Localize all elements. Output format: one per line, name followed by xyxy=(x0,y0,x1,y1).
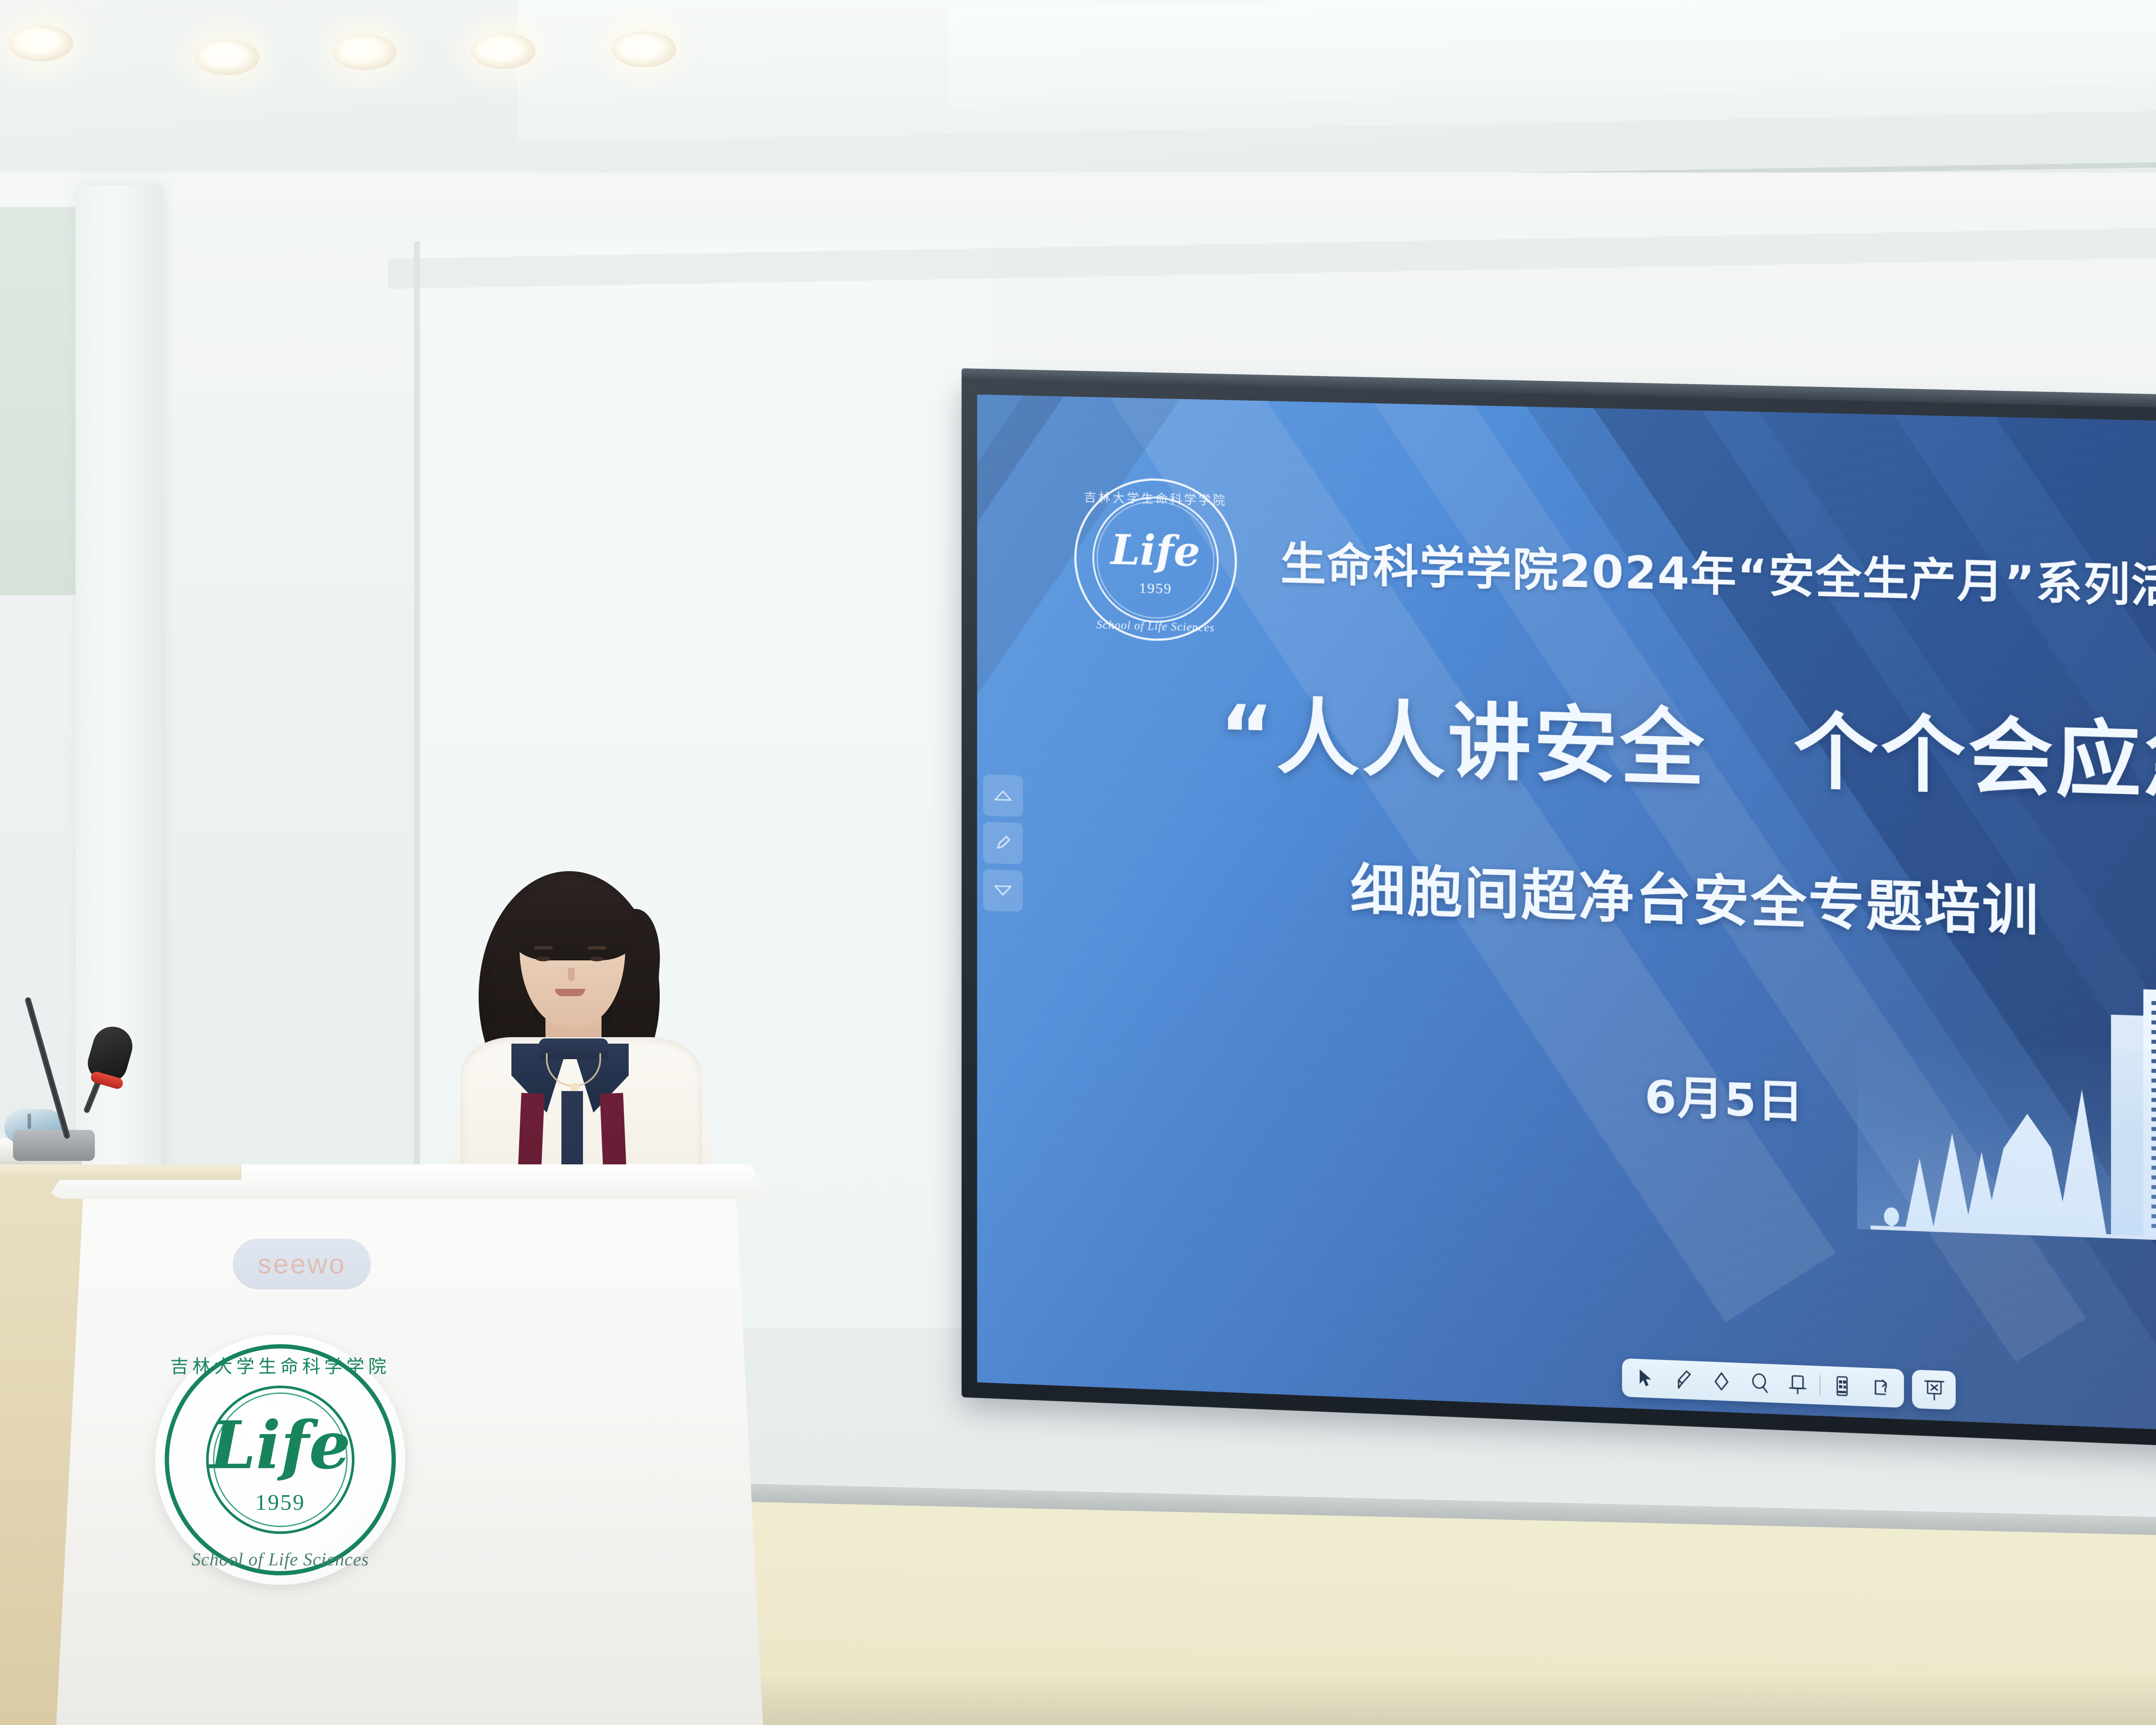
whiteboard-tool[interactable] xyxy=(1779,1367,1817,1402)
slide-date: 6月5日 xyxy=(1645,1060,1804,1131)
presenter-pendant xyxy=(570,1082,580,1092)
triangle-up-icon xyxy=(993,788,1013,803)
cursor-tool[interactable] xyxy=(1626,1361,1664,1396)
qrcode-tool[interactable] xyxy=(1823,1369,1861,1404)
exit-presentation-button[interactable] xyxy=(1912,1370,1955,1410)
building-reflection xyxy=(1857,1041,2156,1257)
slide-building-illustration: 生命科学楼 xyxy=(1857,909,2156,1448)
qrcode-icon xyxy=(1832,1375,1852,1398)
recessed-downlight xyxy=(9,25,73,61)
podium-emblem-year: 1959 xyxy=(155,1490,405,1515)
recessed-downlight xyxy=(471,33,536,69)
presenter-mouth xyxy=(555,989,585,996)
lecture-hall-scene: 吉林大学生命科学学院 Life 1959 School of Life Scie… xyxy=(0,0,2156,1725)
slide-school-emblem: 吉林大学生命科学学院 Life 1959 School of Life Scie… xyxy=(1074,477,1237,643)
desk-mouse-scroll xyxy=(28,1113,31,1129)
presenter-brow-left xyxy=(534,946,553,950)
share-icon xyxy=(1870,1376,1890,1399)
podium-emblem-chinese-arc: 吉林大学生命科学学院 xyxy=(155,1352,405,1378)
podium-wood-top xyxy=(0,1164,241,1180)
emblem-english-arc: School of Life Sciences xyxy=(1074,618,1237,635)
eraser-tool[interactable] xyxy=(1702,1364,1740,1399)
cursor-icon xyxy=(1636,1368,1654,1389)
podium-emblem-wordmark: Life xyxy=(155,1412,405,1478)
share-tool[interactable] xyxy=(1861,1370,1899,1405)
presenter-eye-right xyxy=(589,957,604,961)
page-up-button[interactable] xyxy=(983,774,1023,817)
close-presentation-icon xyxy=(1922,1377,1946,1403)
recessed-downlight xyxy=(195,39,260,75)
presenter-brow-right xyxy=(587,946,606,950)
triangle-down-icon xyxy=(993,883,1013,898)
page-down-button[interactable] xyxy=(983,869,1023,912)
recessed-downlight xyxy=(332,34,397,70)
spotlight-tool[interactable] xyxy=(1740,1365,1778,1400)
pen-icon xyxy=(993,833,1012,853)
recessed-downlight xyxy=(611,31,676,67)
slide-main-title: “人人讲安全 个个会应急” xyxy=(1219,668,2156,819)
presenter-nose xyxy=(568,968,575,981)
podium-school-emblem: 吉林大学生命科学学院 Life 1959 School of Life Scie… xyxy=(155,1335,405,1585)
display-screen[interactable]: 吉林大学生命科学学院 Life 1959 School of Life Scie… xyxy=(977,395,2156,1448)
pen-tool[interactable] xyxy=(1664,1362,1702,1397)
magnifier-icon xyxy=(1749,1371,1770,1394)
display-bezel: 吉林大学生命科学学院 Life 1959 School of Life Scie… xyxy=(962,379,2156,1465)
whiteboard-icon xyxy=(1787,1373,1808,1396)
display-side-panel[interactable] xyxy=(983,774,1023,918)
interactive-display[interactable]: 吉林大学生命科学学院 Life 1959 School of Life Scie… xyxy=(962,379,2156,1397)
toolbar-separator xyxy=(1820,1375,1821,1396)
emblem-wordmark: Life xyxy=(1074,528,1237,574)
microphone-base xyxy=(13,1130,95,1161)
presenter-eye-left xyxy=(536,957,551,961)
annotate-button[interactable] xyxy=(983,822,1023,864)
podium-emblem-english-arc: School of Life Sciences xyxy=(155,1549,405,1570)
pen-icon xyxy=(1673,1368,1693,1391)
podium-brand-badge: seewo xyxy=(233,1239,371,1289)
eraser-icon xyxy=(1711,1370,1732,1393)
floor-shadow xyxy=(707,1673,2156,1725)
